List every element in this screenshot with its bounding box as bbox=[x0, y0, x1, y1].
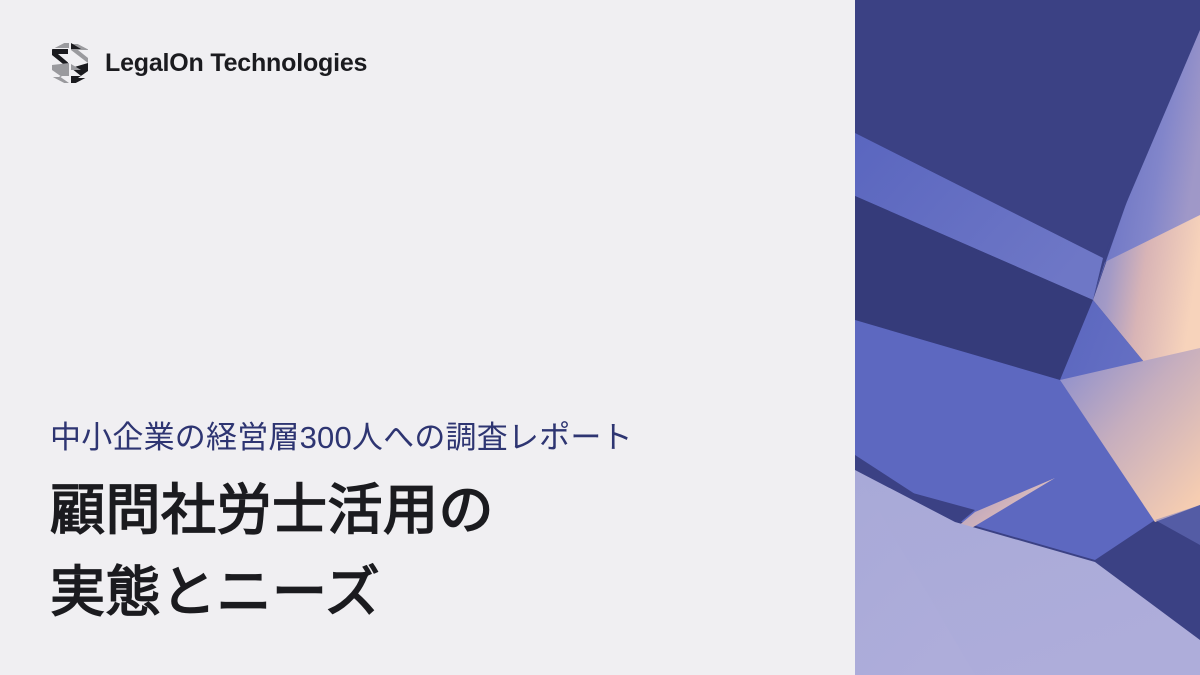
page-title-line-2: 実態とニーズ bbox=[50, 552, 810, 634]
abstract-3d-geometric-graphic bbox=[855, 0, 1200, 675]
brand-wordmark: LegalOn Technologies bbox=[105, 51, 367, 76]
page-title-line-1: 顧問社労士活用の bbox=[50, 470, 810, 552]
report-kicker: 中小企業の経営層300人への調査レポート bbox=[50, 418, 810, 458]
report-cover-slide: LegalOn Technologies 中小企業の経営層300人への調査レポー… bbox=[0, 0, 1200, 675]
page-title: 顧問社労士活用の 実態とニーズ bbox=[50, 470, 810, 634]
legalon-hexagon-logo-icon bbox=[48, 40, 92, 86]
headline-block: 中小企業の経営層300人への調査レポート 顧問社労士活用の 実態とニーズ bbox=[50, 418, 810, 634]
brand-logo-lockup: LegalOn Technologies bbox=[48, 40, 367, 86]
left-content-panel: LegalOn Technologies 中小企業の経営層300人への調査レポー… bbox=[0, 0, 855, 675]
